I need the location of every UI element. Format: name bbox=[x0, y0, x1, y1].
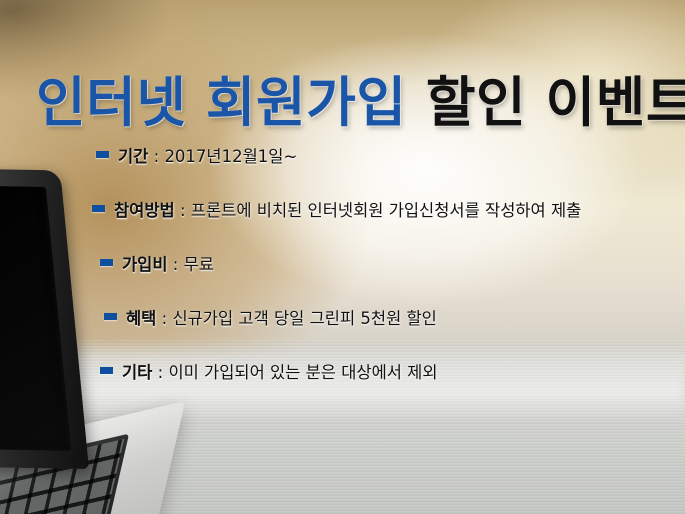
bullet-list: 기간 : 2017년12월1일~ 참여방법 : 프론트에 비치된 인터넷회원 가… bbox=[92, 143, 672, 383]
bullet-item-text: 참여방법 : 프론트에 비치된 인터넷회원 가입신청서를 작성하여 제출 bbox=[114, 197, 581, 221]
bullet-item-separator: : bbox=[175, 201, 191, 220]
bullet-item-separator: : bbox=[152, 363, 168, 382]
title-segment-primary: 인터넷 회원가입 bbox=[36, 71, 426, 134]
bullet-item-separator: : bbox=[168, 255, 184, 274]
laptop-lid bbox=[0, 167, 89, 469]
bullet-item-label: 기간 bbox=[118, 147, 148, 166]
bullet-item-label: 기타 bbox=[122, 363, 152, 382]
list-item: 기타 : 이미 가입되어 있는 분은 대상에서 제외 bbox=[100, 359, 672, 383]
list-item: 가입비 : 무료 bbox=[100, 251, 672, 275]
bullet-item-separator: : bbox=[156, 309, 172, 328]
square-bullet-icon bbox=[104, 313, 117, 320]
list-item: 기간 : 2017년12월1일~ bbox=[96, 143, 672, 167]
list-item: 참여방법 : 프론트에 비치된 인터넷회원 가입신청서를 작성하여 제출 bbox=[92, 197, 672, 221]
promotion-slide: 인터넷 회원가입 할인 이벤트 기간 : 2017년12월1일~ 참여방법 : … bbox=[0, 0, 685, 514]
square-bullet-icon bbox=[100, 259, 113, 266]
bullet-item-text: 기간 : 2017년12월1일~ bbox=[118, 143, 297, 167]
bullet-item-text: 혜택 : 신규가입 고객 당일 그린피 5천원 할인 bbox=[126, 305, 437, 329]
bullet-item-value: 이미 가입되어 있는 분은 대상에서 제외 bbox=[168, 363, 437, 382]
slide-title: 인터넷 회원가입 할인 이벤트 bbox=[36, 70, 656, 136]
bullet-item-label: 가입비 bbox=[122, 255, 168, 274]
bullet-item-value: 무료 bbox=[184, 255, 214, 274]
bullet-item-text: 가입비 : 무료 bbox=[122, 251, 214, 275]
bullet-item-value: 2017년12월1일~ bbox=[164, 147, 297, 166]
title-segment-secondary: 할인 이벤트 bbox=[426, 71, 685, 134]
bullet-item-label: 참여방법 bbox=[114, 201, 175, 220]
bullet-item-value: 신규가입 고객 당일 그린피 5천원 할인 bbox=[172, 309, 436, 328]
bullet-item-text: 기타 : 이미 가입되어 있는 분은 대상에서 제외 bbox=[122, 359, 438, 383]
square-bullet-icon bbox=[100, 367, 113, 374]
square-bullet-icon bbox=[92, 205, 105, 212]
bullet-item-separator: : bbox=[148, 147, 164, 166]
list-item: 혜택 : 신규가입 고객 당일 그린피 5천원 할인 bbox=[104, 305, 672, 329]
square-bullet-icon bbox=[96, 151, 109, 158]
bullet-item-value: 프론트에 비치된 인터넷회원 가입신청서를 작성하여 제출 bbox=[191, 201, 582, 220]
bullet-item-label: 혜택 bbox=[126, 309, 156, 328]
